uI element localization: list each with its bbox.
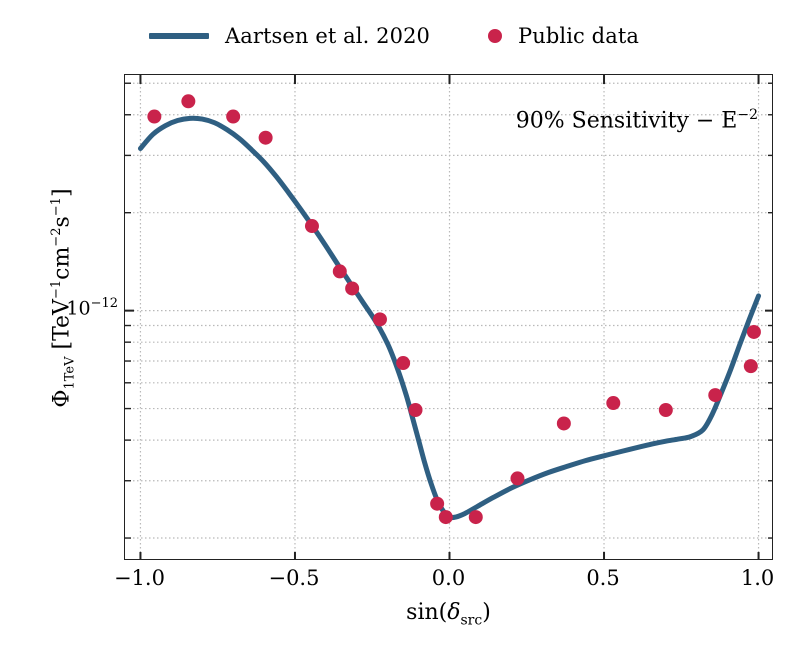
xlabel-prefix: sin(: [406, 600, 447, 625]
series-scatter-public-data: [147, 94, 761, 524]
x-tick-label: 0.0: [409, 566, 489, 590]
plot-area: 90% Sensitivity − E−2: [124, 74, 773, 560]
figure-canvas: Aartsen et al. 2020 Public data 10−12 Φ1…: [0, 0, 788, 646]
ylabel-cm: cm: [49, 247, 74, 280]
x-tick-label: −0.5: [254, 566, 334, 590]
xlabel-suffix: ): [482, 600, 491, 625]
annotation-text: 90% Sensitivity − E: [516, 108, 738, 133]
x-tick-label: 0.5: [563, 566, 643, 590]
legend-label-model: Aartsen et al. 2020: [225, 24, 430, 48]
xlabel-delta: δ: [447, 600, 460, 625]
x-tick-label: 1.0: [718, 566, 788, 590]
ylabel-phi: Φ: [49, 390, 74, 408]
annotation-exponent: −2: [737, 107, 758, 123]
legend-label-data: Public data: [518, 24, 639, 48]
ylabel-units-open: [TeV: [49, 299, 74, 356]
x-tick-label: −1.0: [99, 566, 179, 590]
ylabel-sup-tev: −1: [49, 280, 64, 299]
y-tick-exponent: −12: [91, 296, 118, 311]
gridlines-major: [140, 75, 758, 560]
legend-entry-line: Aartsen et al. 2020: [149, 24, 430, 48]
ylabel-sup-s: −1: [49, 197, 64, 216]
xlabel-sub: src: [461, 612, 483, 628]
legend-entry-marker: Public data: [488, 24, 639, 48]
ylabel-sub: 1TeV: [62, 357, 77, 390]
ylabel-units-close: ]: [49, 188, 74, 197]
ylabel-s: s: [49, 216, 74, 227]
y-axis-title-wrapper: Φ1TeV [TeV−1cm−2s−1]: [43, 88, 83, 508]
legend: Aartsen et al. 2020 Public data: [0, 14, 788, 58]
x-axis-title: sin(δsrc): [124, 600, 773, 628]
legend-dot-swatch: [488, 29, 502, 43]
sensitivity-annotation: 90% Sensitivity − E−2: [516, 107, 758, 133]
legend-line-swatch: [149, 33, 209, 39]
series-line-aartsen: [140, 118, 758, 517]
plot-svg: [125, 75, 773, 560]
y-axis-title: Φ1TeV [TeV−1cm−2s−1]: [49, 188, 78, 407]
ylabel-sup-cm: −2: [49, 228, 64, 247]
